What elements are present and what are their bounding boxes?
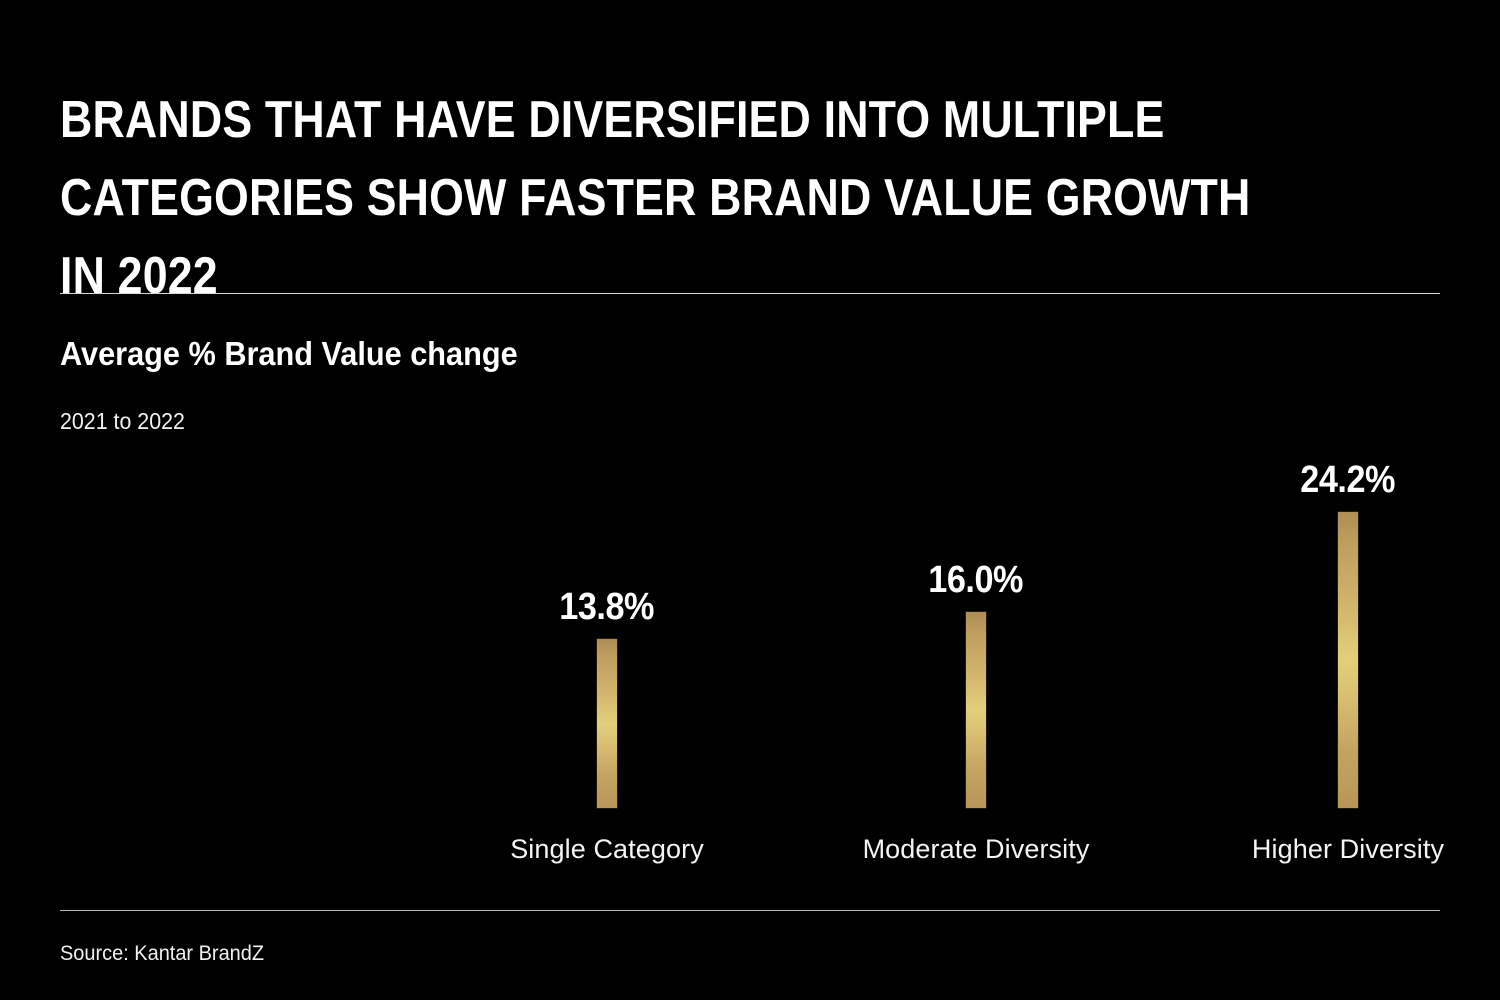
bar-single-category[interactable] [597,639,617,808]
divider-top [60,293,1440,294]
bar-column: 24.2% [1198,430,1498,808]
bar-chart: 13.8% Single Category 16.0% Moderate Div… [60,430,1440,870]
bar-higher-diversity[interactable] [1338,512,1358,808]
bar-moderate-diversity[interactable] [966,612,986,808]
divider-bottom [60,910,1440,911]
infographic-page: BRANDS THAT HAVE DIVERSIFIED INTO MULTIP… [0,0,1500,1000]
source-note: Source: Kantar BrandZ [60,940,264,968]
category-label-moderate-diversity: Moderate Diversity [826,832,1126,866]
category-label-higher-diversity: Higher Diversity [1198,832,1498,866]
bar-value-label: 16.0% [929,558,1024,602]
bar-column: 13.8% [457,430,757,808]
bar-column: 16.0% [826,430,1126,808]
chart-subtitle: Average % Brand Value change [60,332,518,376]
bar-group-moderate-diversity: 16.0% Moderate Diversity [826,430,1126,870]
bar-group-higher-diversity: 24.2% Higher Diversity [1198,430,1498,870]
chart-plot-area: 13.8% Single Category 16.0% Moderate Div… [60,430,1440,870]
bar-value-label: 24.2% [1301,458,1396,502]
bar-group-single-category: 13.8% Single Category [457,430,757,870]
category-label-single-category: Single Category [457,832,757,866]
bar-value-label: 13.8% [560,585,655,629]
page-title: BRANDS THAT HAVE DIVERSIFIED INTO MULTIP… [60,81,1255,315]
